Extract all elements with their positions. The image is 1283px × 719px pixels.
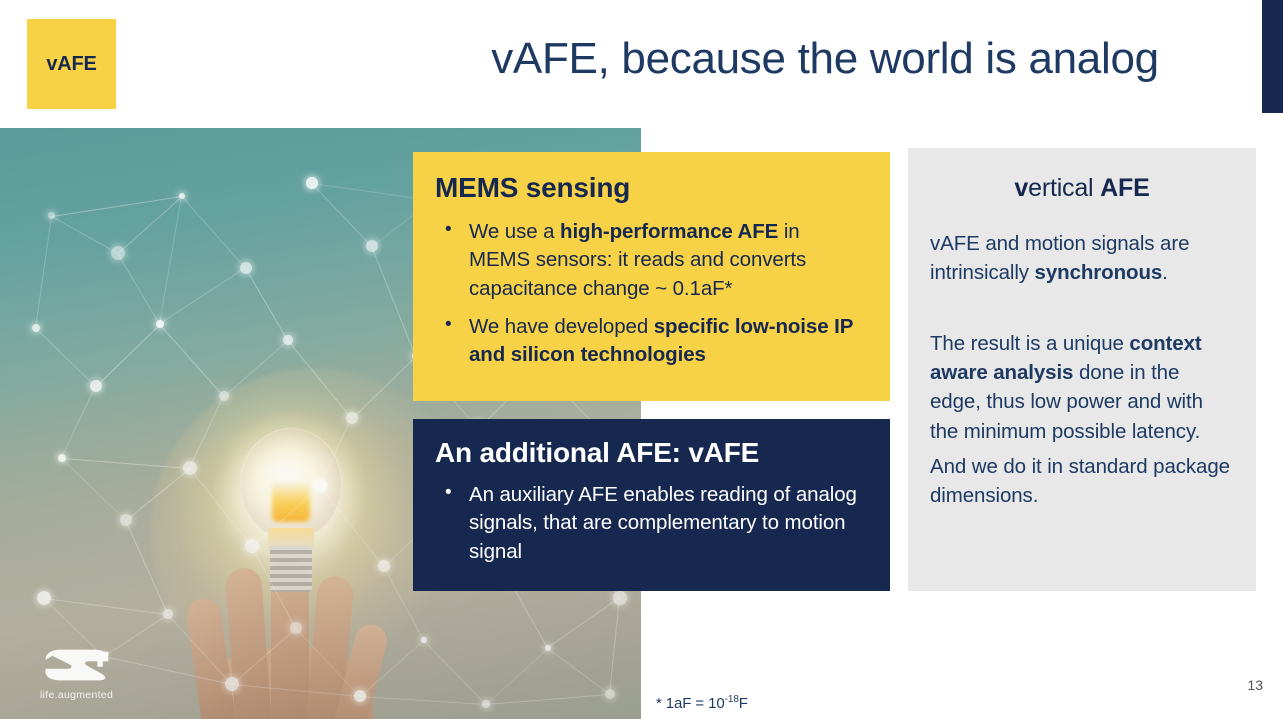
vafe-badge: vAFE xyxy=(27,19,116,109)
emphasis-text: synchronous xyxy=(1035,261,1163,284)
footnote-prefix: * 1aF = 10 xyxy=(656,695,725,712)
mems-sensing-heading: MEMS sensing xyxy=(435,172,864,204)
vafe-badge-label: vAFE xyxy=(46,53,96,76)
vertical-afe-heading-v: v xyxy=(1014,174,1028,202)
body-text: The result is a unique xyxy=(930,332,1129,355)
corner-accent-bar xyxy=(1262,0,1283,113)
st-logo: life.augmented xyxy=(40,646,180,701)
body-text: We have developed xyxy=(469,315,654,338)
additional-afe-card: An additional AFE: vAFE An auxiliary AFE… xyxy=(413,419,890,591)
additional-afe-heading: An additional AFE: vAFE xyxy=(435,437,864,469)
vertical-afe-panel: vertical AFE vAFE and motion signals are… xyxy=(908,148,1256,591)
presentation-slide: life.augmented vAFE vAFE, because the wo… xyxy=(0,0,1283,719)
page-title: vAFE, because the world is analog xyxy=(400,34,1250,84)
footnote-suffix: F xyxy=(739,695,748,712)
bullet-item: We have developed specific low-noise IP … xyxy=(435,313,864,370)
footnote: * 1aF = 10-18F xyxy=(656,694,748,712)
st-tagline: life.augmented xyxy=(40,689,180,701)
panel-paragraph: The result is a unique context aware ana… xyxy=(930,329,1234,445)
additional-afe-bullet-list: An auxiliary AFE enables reading of anal… xyxy=(435,481,864,566)
footnote-exponent: -18 xyxy=(725,694,739,705)
bullet-item: An auxiliary AFE enables reading of anal… xyxy=(435,481,864,566)
vertical-afe-heading: vertical AFE xyxy=(930,174,1234,203)
panel-paragraph: And we do it in standard package dimensi… xyxy=(930,452,1234,510)
bullet-item: We use a high-performance AFE in MEMS se… xyxy=(435,218,864,303)
page-number: 13 xyxy=(1247,677,1263,693)
vertical-afe-heading-ertical: ertical xyxy=(1028,174,1100,202)
emphasis-text: high-performance AFE xyxy=(560,220,778,243)
vertical-afe-heading-afe: AFE xyxy=(1100,174,1149,202)
vertical-afe-paragraphs: vAFE and motion signals are intrinsicall… xyxy=(930,229,1234,510)
mems-sensing-card: MEMS sensing We use a high-performance A… xyxy=(413,152,890,401)
st-logo-icon xyxy=(40,646,122,682)
body-text: . xyxy=(1162,261,1168,284)
body-text: And we do it in standard package dimensi… xyxy=(930,455,1230,507)
body-text: We use a xyxy=(469,220,560,243)
slide-header: vAFE vAFE, because the world is analog xyxy=(0,0,1283,128)
mems-sensing-bullet-list: We use a high-performance AFE in MEMS se… xyxy=(435,218,864,369)
body-text: An auxiliary AFE enables reading of anal… xyxy=(469,483,857,563)
panel-paragraph: vAFE and motion signals are intrinsicall… xyxy=(930,229,1234,287)
